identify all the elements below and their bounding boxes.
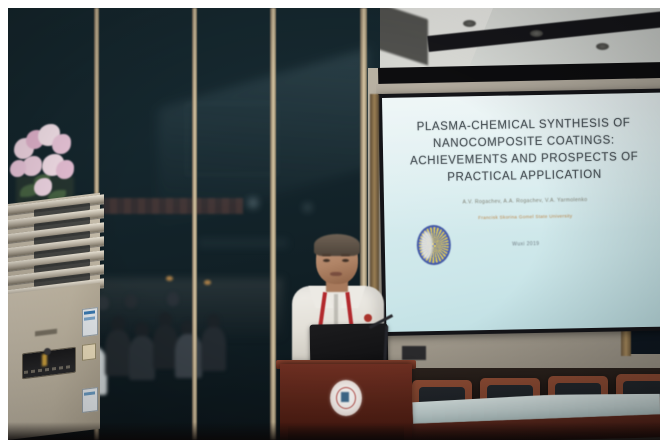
speaker-eye <box>342 259 349 262</box>
speaker-eye <box>323 259 330 262</box>
air-conditioner-label-sticker <box>82 307 98 337</box>
photo-frame: PLASMA-CHEMICAL SYNTHESIS OF NANOCOMPOSI… <box>0 0 660 440</box>
glass-highlight <box>304 204 311 211</box>
speaker-mouth <box>330 272 342 276</box>
air-conditioner-label-sticker <box>82 387 98 413</box>
slide-affiliation: Francisk Skorina Gomel State University <box>420 212 630 221</box>
reflected-banner <box>103 198 243 214</box>
conference-presentation-photo: PLASMA-CHEMICAL SYNTHESIS OF NANOCOMPOSI… <box>8 8 660 440</box>
side-equipment-box <box>402 346 426 360</box>
slide-title: PLASMA-CHEMICAL SYNTHESIS OF NANOCOMPOSI… <box>403 115 644 188</box>
ceiling-downlight <box>596 43 609 50</box>
reflected-lamp <box>204 280 211 285</box>
laptop-logo-icon <box>44 348 51 355</box>
glass-mullion <box>192 8 197 440</box>
ceiling-downlight <box>530 30 543 37</box>
speaker-eyebrow <box>341 254 350 256</box>
slide-place-date: Wuxi 2019 <box>421 239 631 249</box>
glass-mullion <box>270 8 276 440</box>
wall-reflection-shape <box>186 103 278 175</box>
projector-screen[interactable]: PLASMA-CHEMICAL SYNTHESIS OF NANOCOMPOSI… <box>382 93 660 332</box>
air-conditioner-warning-sticker <box>82 343 96 361</box>
glass-highlight <box>248 198 258 208</box>
ceiling-downlight <box>463 20 476 27</box>
slide-authors: A.V. Rogachev, A.A. Rogachev, V.A. Yarmo… <box>420 196 630 206</box>
podium-microphone[interactable] <box>364 314 372 322</box>
university-emblem-crescent-icon <box>421 231 434 259</box>
foreground-shadow <box>8 422 660 440</box>
air-conditioner-display-glow <box>42 354 47 367</box>
presentation-slide: PLASMA-CHEMICAL SYNTHESIS OF NANOCOMPOSI… <box>382 93 660 332</box>
speaker-eyebrow <box>322 254 331 256</box>
reflected-lamp <box>166 276 173 281</box>
speaker-hair <box>314 234 360 256</box>
institution-seal-core-icon <box>341 392 349 402</box>
